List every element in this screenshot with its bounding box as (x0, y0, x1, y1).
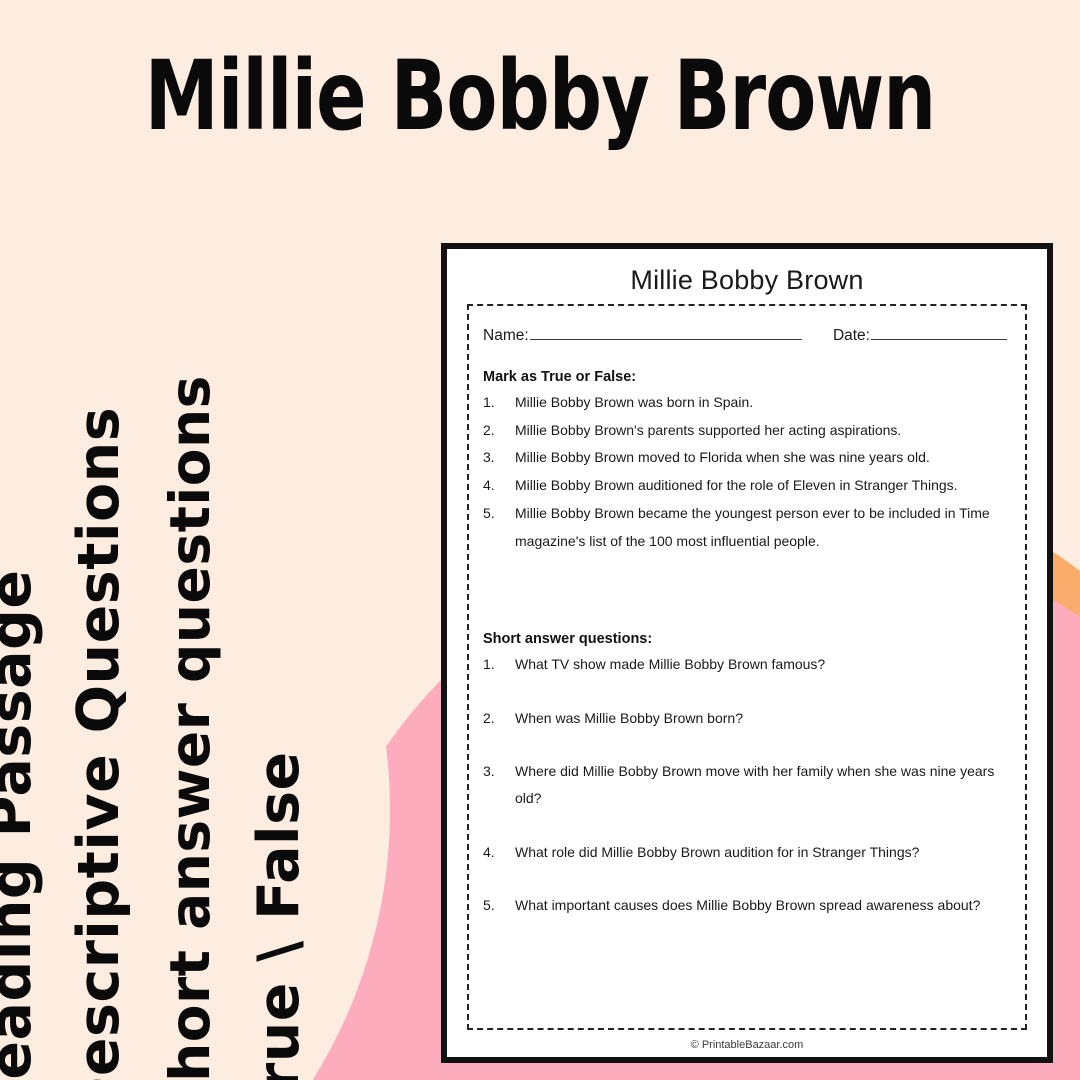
short-answer-list: 1. What TV show made Millie Bobby Brown … (483, 651, 1011, 919)
item-number: 1. (483, 389, 515, 417)
item-text: Where did Millie Bobby Brown move with h… (515, 758, 1011, 813)
worksheet-dashed-panel: Name: Date: Mark as True or False: 1. Mi… (467, 304, 1027, 1030)
list-item[interactable]: 3. Millie Bobby Brown moved to Florida w… (483, 444, 1011, 472)
item-text: What TV show made Millie Bobby Brown fam… (515, 651, 1011, 678)
item-number: 5. (483, 500, 515, 555)
true-false-heading: Mark as True or False: (483, 369, 1011, 385)
item-number: 3. (483, 444, 515, 472)
page-title: Millie Bobby Brown (76, 48, 1005, 144)
name-label: Name: (483, 327, 529, 345)
item-text: When was Millie Bobby Brown born? (515, 705, 1011, 732)
item-number: 2. (483, 705, 515, 732)
bottom-spacer (483, 919, 1011, 1018)
short-answer-section: Short answer questions: 1. What TV show … (483, 629, 1011, 919)
item-text: What important causes does Millie Bobby … (515, 892, 1011, 919)
name-field[interactable]: Name: (483, 326, 802, 345)
date-label: Date: (833, 327, 870, 345)
vertical-label-short-answer-questions: Short answer questions (158, 375, 222, 1080)
worksheet-footer: © PrintableBazaar.com (467, 1030, 1027, 1057)
vertical-label-reading-passage: Reading Passage (0, 569, 44, 1080)
item-text: Millie Bobby Brown moved to Florida when… (515, 444, 1011, 472)
item-text: Millie Bobby Brown's parents supported h… (515, 417, 1011, 445)
true-false-list: 1. Millie Bobby Brown was born in Spain.… (483, 389, 1011, 555)
list-item[interactable]: 1. Millie Bobby Brown was born in Spain. (483, 389, 1011, 417)
list-item[interactable]: 2. When was Millie Bobby Brown born? (483, 705, 1011, 732)
section-spacer (483, 555, 1011, 629)
item-text: Millie Bobby Brown was born in Spain. (515, 389, 1011, 417)
name-date-row: Name: Date: (483, 320, 1011, 347)
vertical-label-descriptive-questions: Descriptive Questions (66, 407, 132, 1080)
item-number: 2. (483, 417, 515, 445)
list-item[interactable]: 4. What role did Millie Bobby Brown audi… (483, 839, 1011, 866)
item-number: 4. (483, 472, 515, 500)
name-input-blank[interactable] (530, 326, 802, 340)
item-text: What role did Millie Bobby Brown auditio… (515, 839, 1011, 866)
item-number: 4. (483, 839, 515, 866)
short-answer-heading: Short answer questions: (483, 631, 1011, 647)
item-text: Millie Bobby Brown became the youngest p… (515, 500, 1011, 555)
item-number: 5. (483, 892, 515, 919)
true-false-section: Mark as True or False: 1. Millie Bobby B… (483, 347, 1011, 555)
worksheet-title: Millie Bobby Brown (467, 259, 1027, 304)
list-item[interactable]: 5. Millie Bobby Brown became the younges… (483, 500, 1011, 555)
item-text: Millie Bobby Brown auditioned for the ro… (515, 472, 1011, 500)
item-number: 3. (483, 758, 515, 813)
worksheet-sheet: Millie Bobby Brown Name: Date: Mark as T… (441, 243, 1053, 1063)
date-field[interactable]: Date: (833, 326, 1011, 345)
list-item[interactable]: 3. Where did Millie Bobby Brown move wit… (483, 758, 1011, 813)
list-item[interactable]: 1. What TV show made Millie Bobby Brown … (483, 651, 1011, 678)
date-input-blank[interactable] (871, 326, 1007, 340)
list-item[interactable]: 2. Millie Bobby Brown's parents supporte… (483, 417, 1011, 445)
vertical-label-true-false: True \ False (246, 751, 312, 1080)
item-number: 1. (483, 651, 515, 678)
list-item[interactable]: 5. What important causes does Millie Bob… (483, 892, 1011, 919)
list-item[interactable]: 4. Millie Bobby Brown auditioned for the… (483, 472, 1011, 500)
